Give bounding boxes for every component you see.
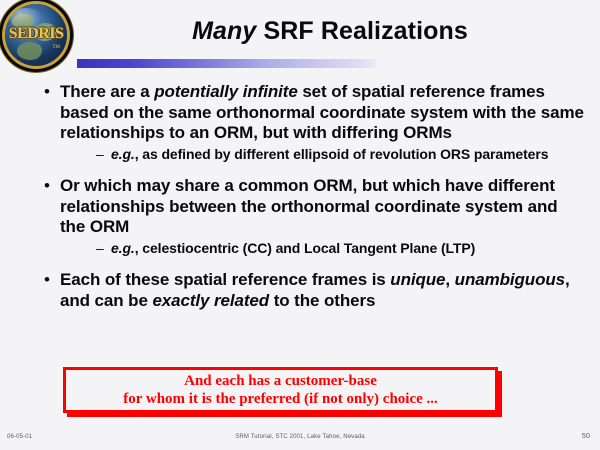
bullet-marker-icon: • (44, 82, 60, 103)
sub-bullet-post: , as defined by different ellipsoid of r… (135, 146, 549, 162)
callout-line-2: for whom it is the preferred (if not onl… (123, 390, 438, 408)
slide-title-emphasis: Many (192, 17, 256, 45)
bullet-text-pre: There are a (60, 82, 154, 101)
footer-page-number: 50 (582, 433, 590, 440)
bullet3-post: to the others (269, 291, 375, 310)
sub-bullet-text: e.g., as defined by different ellipsoid … (111, 146, 584, 164)
slide-title-rest: SRF Realizations (256, 17, 467, 45)
bullet-text: Each of these spatial reference frames i… (60, 270, 584, 311)
sub-bullet-emphasis: e.g. (111, 146, 135, 162)
callout-line-1: And each has a customer-base (184, 372, 377, 390)
sub-bullet-item: – e.g., as defined by different ellipsoi… (96, 146, 584, 164)
bullet-text-pre: Or which may share a common ORM, but whi… (60, 176, 558, 236)
slide-footer: 06-05-01 SRM Tutorial, STC 2001, Lake Ta… (0, 432, 600, 446)
sub-bullet-item: – e.g., celestiocentric (CC) and Local T… (96, 240, 584, 258)
bullet3-em2: unambiguous (455, 270, 565, 289)
slide-body: • There are a potentially infinite set o… (44, 82, 584, 313)
slide-canvas: SEDRIS TM Many SRF Realizations • There … (0, 0, 600, 450)
sub-bullet-marker-icon: – (96, 240, 111, 258)
sub-bullet-text: e.g., celestiocentric (CC) and Local Tan… (111, 240, 584, 258)
bullet3-em1: unique (390, 270, 445, 289)
bullet-text-emphasis: potentially infinite (154, 82, 297, 101)
title-underline-gradient (77, 59, 376, 68)
footer-event: SRM Tutorial, STC 2001, Lake Tahoe, Neva… (0, 434, 600, 440)
bullet-item: • Each of these spatial reference frames… (44, 270, 584, 311)
sub-bullet-marker-icon: – (96, 146, 111, 164)
slide-title: Many SRF Realizations (80, 17, 580, 46)
sub-bullet-emphasis: e.g. (111, 240, 135, 256)
sedris-logo-icon: SEDRIS TM (5, 4, 67, 66)
sedris-wordmark: SEDRIS (5, 26, 67, 42)
sub-bullet-post: , celestiocentric (CC) and Local Tangent… (135, 240, 475, 256)
callout-box: And each has a customer-base for whom it… (63, 367, 498, 413)
bullet-marker-icon: • (44, 270, 60, 291)
bullet3-mid1: , (445, 270, 454, 289)
bullet3-em3: exactly related (152, 291, 269, 310)
trademark-mark: TM (53, 45, 61, 50)
bullet-item: • There are a potentially infinite set o… (44, 82, 584, 144)
bullet-text: There are a potentially infinite set of … (60, 82, 584, 144)
bullet-item: • Or which may share a common ORM, but w… (44, 176, 584, 238)
bullet-marker-icon: • (44, 176, 60, 197)
bullet3-pre: Each of these spatial reference frames i… (60, 270, 390, 289)
bullet-text: Or which may share a common ORM, but whi… (60, 176, 584, 238)
